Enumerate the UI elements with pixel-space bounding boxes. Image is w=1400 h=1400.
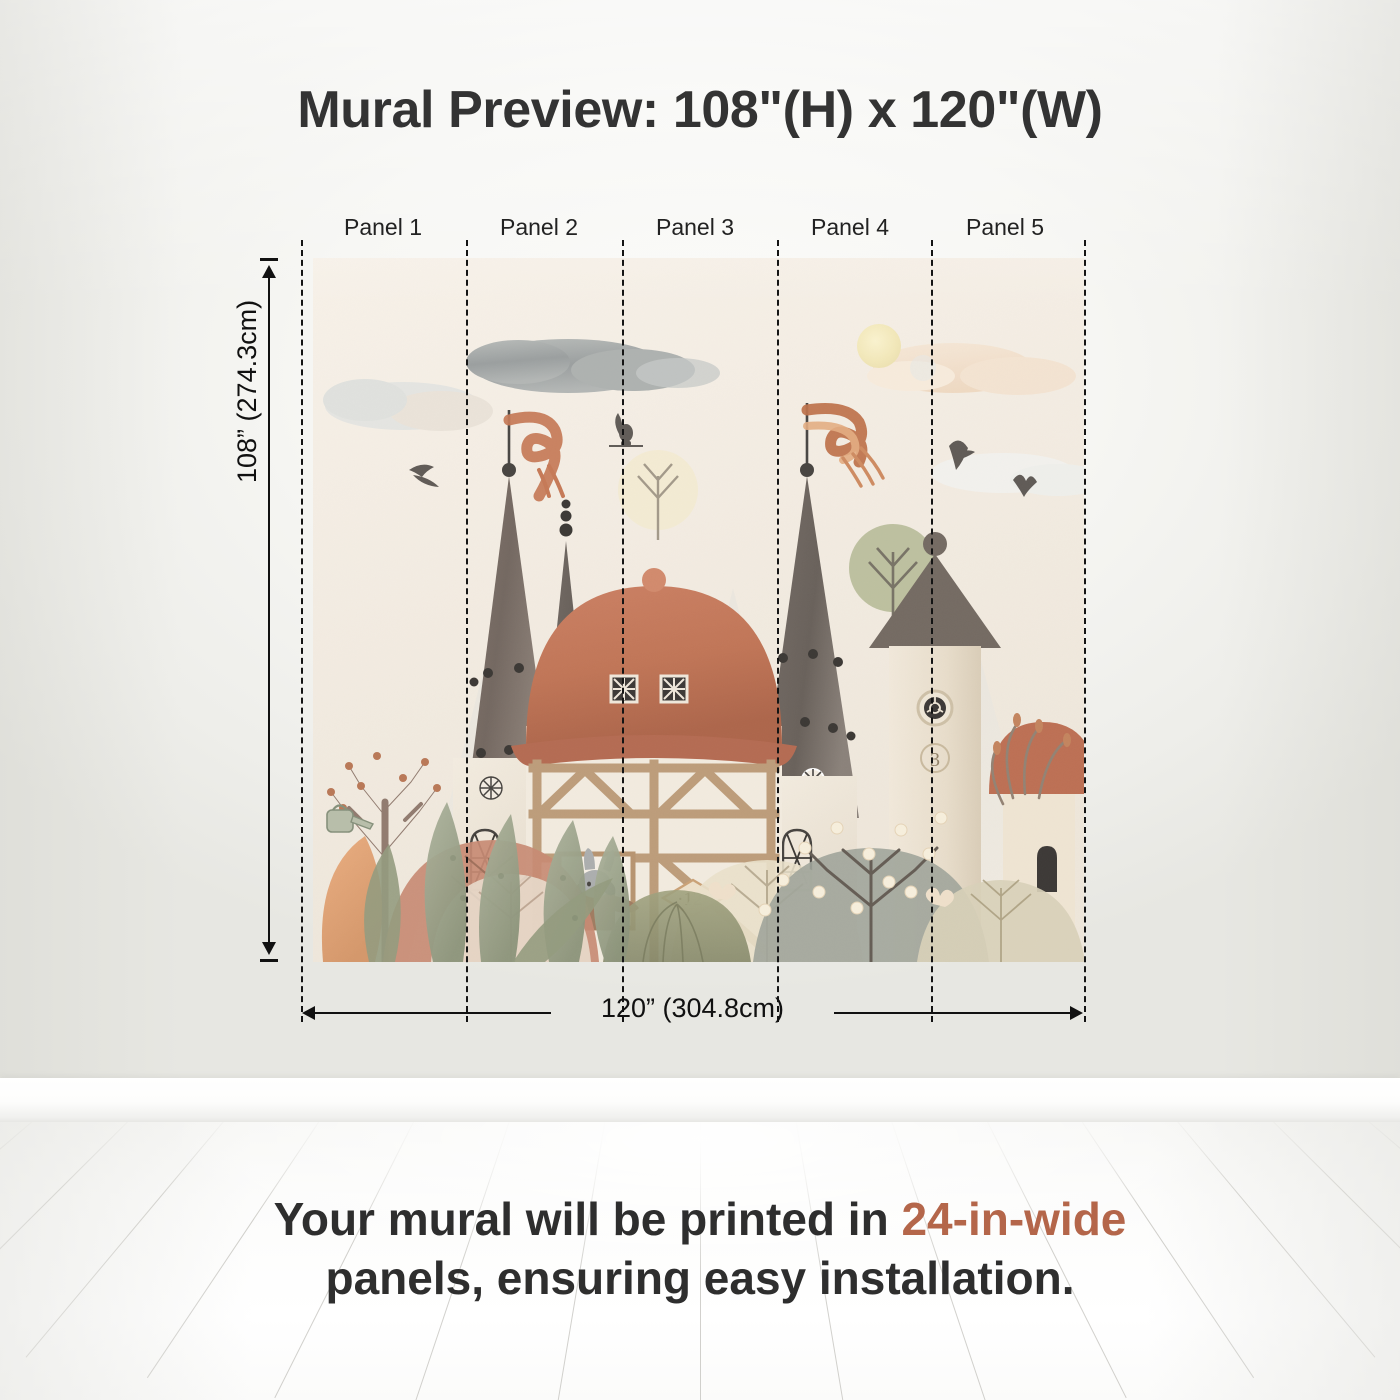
baseboard <box>0 1078 1400 1124</box>
room-scene: ·12· <box>0 0 1400 1400</box>
caption-line-1: Your mural will be printed in 24-in-wide <box>0 1190 1400 1249</box>
panel-divider-2 <box>622 240 624 1022</box>
panel-label-2: Panel 2 <box>500 214 578 241</box>
height-arrow-head-bottom <box>262 942 276 955</box>
height-tick-bottom <box>260 959 278 962</box>
panel-divider-4 <box>931 240 933 1022</box>
page-title: Mural Preview: 108"(H) x 120"(W) <box>0 80 1400 140</box>
width-dimension-label: 120” (304.8cm) <box>301 993 1084 1024</box>
panel-divider-0 <box>301 240 303 1022</box>
panel-divider-5 <box>1084 240 1086 1022</box>
caption-line-2: panels, ensuring easy installation. <box>0 1249 1400 1308</box>
height-tick-top <box>260 258 278 261</box>
mural-artwork: ·12· <box>313 258 1084 962</box>
height-arrow-head-top <box>262 265 276 278</box>
footer-caption: Your mural will be printed in 24-in-wide… <box>0 1190 1400 1308</box>
height-dimension-label: 108” (274.3cm) <box>232 300 263 483</box>
panel-label-3: Panel 3 <box>656 214 734 241</box>
panel-label-1: Panel 1 <box>344 214 422 241</box>
caption-accent-panel-width: 24-in-wide <box>901 1193 1126 1245</box>
panel-divider-1 <box>466 240 468 1022</box>
panel-label-4: Panel 4 <box>811 214 889 241</box>
caption-line-1-prefix: Your mural will be printed in <box>274 1193 902 1245</box>
panel-label-5: Panel 5 <box>966 214 1044 241</box>
height-arrow-shaft <box>268 269 270 951</box>
panel-label-row: Panel 1 Panel 2 Panel 3 Panel 4 Panel 5 <box>301 214 1084 248</box>
panel-divider-3 <box>777 240 779 1022</box>
